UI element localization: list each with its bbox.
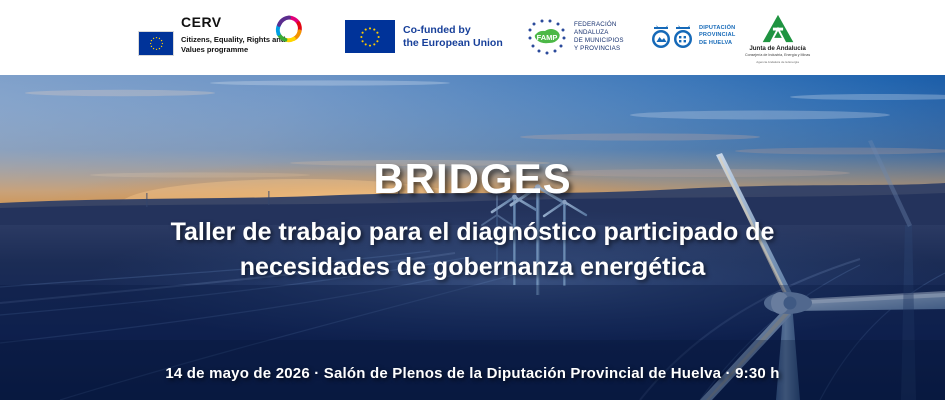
logo-junta-line2: Consejería de Industria, Energía y Minas bbox=[745, 53, 810, 58]
logo-famp: FAMP FEDERACIÓN ANDALUZA DE MUNICIPIOS Y… bbox=[525, 17, 624, 57]
diputacion-shields-icon bbox=[650, 22, 694, 50]
svg-text:FAMP: FAMP bbox=[537, 33, 558, 42]
logo-eu-line2: the European Union bbox=[403, 37, 503, 50]
logo-cerv-title: CERV bbox=[181, 14, 286, 30]
page-title: BRIDGES bbox=[0, 155, 945, 203]
logo-junta-line3: Agencia Andaluza de la Energía bbox=[745, 60, 810, 65]
logo-co-funded-eu: Co-funded by the European Union bbox=[345, 20, 503, 53]
logo-junta-andalucia: Junta de Andalucía Consejería de Industr… bbox=[745, 14, 810, 65]
logo-dip-line3: DE HUELVA bbox=[699, 40, 736, 47]
cerv-ring-icon bbox=[274, 14, 304, 44]
hero-text-block: BRIDGES Taller de trabajo para el diagnó… bbox=[0, 75, 945, 400]
logo-diputacion-huelva: DIPUTACIÓN PROVINCIAL DE HUELVA bbox=[650, 22, 736, 50]
famp-stars-icon: FAMP bbox=[525, 17, 569, 57]
logo-famp-line2: ANDALUZA bbox=[574, 29, 624, 37]
logo-famp-line3: DE MUNICIPIOS bbox=[574, 37, 624, 45]
event-details: 14 de mayo de 2026 · Salón de Plenos de … bbox=[0, 365, 945, 382]
junta-a-icon bbox=[761, 14, 795, 43]
eu-stars-icon bbox=[359, 26, 381, 48]
hero-section: BRIDGES Taller de trabajo para el diagnó… bbox=[0, 75, 945, 400]
logo-famp-line4: Y PROVINCIAS bbox=[574, 45, 624, 53]
logo-cerv-subtitle: Citizens, Equality, Rights and Values pr… bbox=[181, 35, 286, 55]
page-subtitle: Taller de trabajo para el diagnóstico pa… bbox=[95, 215, 850, 285]
eu-flag-icon bbox=[345, 20, 395, 53]
logo-eu-line1: Co-funded by bbox=[403, 24, 503, 37]
logo-cerv: CERV Citizens, Equality, Rights and Valu… bbox=[138, 13, 286, 56]
logo-dip-line2: PROVINCIAL bbox=[699, 32, 736, 39]
eu-stars-icon bbox=[149, 36, 164, 51]
logo-dip-line1: DIPUTACIÓN bbox=[699, 25, 736, 32]
sponsor-logo-bar: CERV Citizens, Equality, Rights and Valu… bbox=[0, 0, 945, 75]
logo-junta-line1: Junta de Andalucía bbox=[745, 45, 810, 53]
event-banner: CERV Citizens, Equality, Rights and Valu… bbox=[0, 0, 945, 400]
logo-famp-line1: FEDERACIÓN bbox=[574, 21, 624, 29]
eu-flag-icon bbox=[138, 31, 174, 56]
